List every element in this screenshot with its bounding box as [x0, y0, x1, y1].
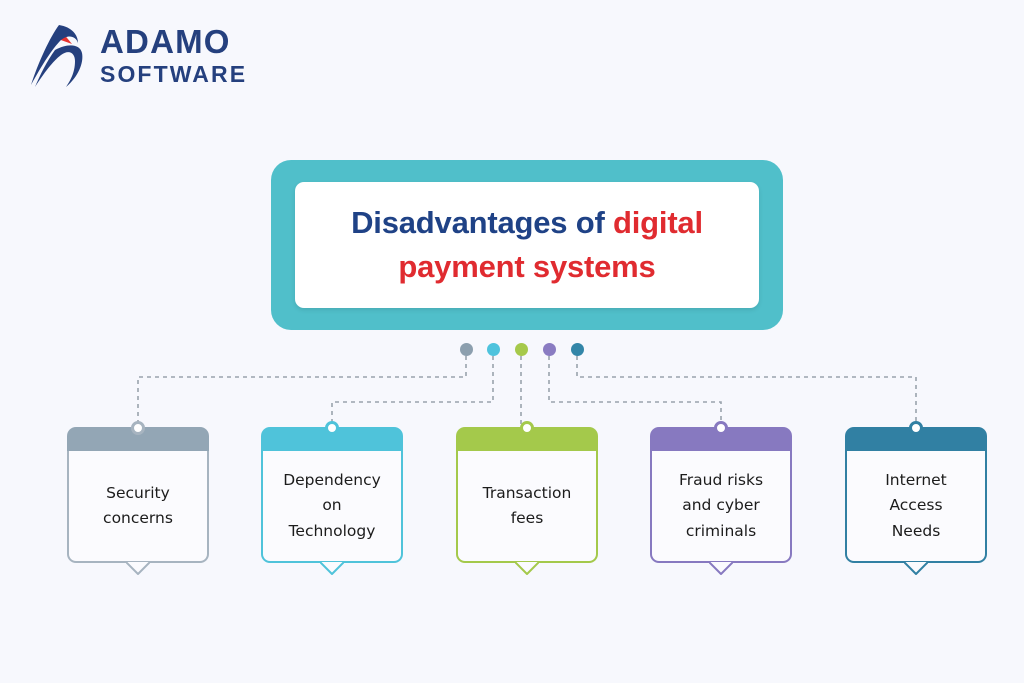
title-accent-part-1: digital	[613, 205, 703, 240]
card-transaction-fees[interactable]: Transactionfees	[456, 427, 598, 563]
card-body: InternetAccessNeeds	[845, 451, 987, 563]
brand-name-top: ADAMO	[100, 25, 247, 58]
card-top-notch	[131, 421, 145, 435]
card-body: Transactionfees	[456, 451, 598, 563]
card-bottom-tab	[320, 561, 344, 575]
dot-internet	[571, 343, 584, 356]
dot-dependency	[487, 343, 500, 356]
card-top-notch	[325, 421, 339, 435]
card-bottom-tab	[904, 561, 928, 575]
card-bottom-tab	[515, 561, 539, 575]
card-label: DependencyonTechnology	[277, 468, 387, 543]
card-internet-access-needs[interactable]: InternetAccessNeeds	[845, 427, 987, 563]
brand-logo: ADAMO SOFTWARE	[28, 16, 268, 94]
card-dependency-on-technology[interactable]: DependencyonTechnology	[261, 427, 403, 563]
card-bottom-tab	[709, 561, 733, 575]
brand-wordmark: ADAMO SOFTWARE	[100, 25, 247, 86]
adamo-swoosh-logo-icon	[28, 19, 90, 91]
title-card: Disadvantages of digital payment systems	[295, 182, 759, 308]
card-body: Securityconcerns	[67, 451, 209, 563]
brand-name-bottom: SOFTWARE	[100, 63, 247, 86]
card-body: Fraud risksand cybercriminals	[650, 451, 792, 563]
card-label: Securityconcerns	[97, 481, 179, 531]
card-bottom-tab	[126, 561, 150, 575]
dot-security	[460, 343, 473, 356]
card-body: DependencyonTechnology	[261, 451, 403, 563]
dot-transaction	[515, 343, 528, 356]
page-title: Disadvantages of digital payment systems	[337, 201, 717, 289]
title-plain-part: Disadvantages of	[351, 205, 613, 240]
connector-lines	[0, 0, 1024, 683]
card-security-concerns[interactable]: Securityconcerns	[67, 427, 209, 563]
title-frame: Disadvantages of digital payment systems	[271, 160, 783, 330]
title-accent-part-2: payment systems	[398, 249, 655, 284]
card-label: InternetAccessNeeds	[879, 468, 953, 543]
card-label: Transactionfees	[477, 481, 578, 531]
card-fraud-risks-and-cyber-criminals[interactable]: Fraud risksand cybercriminals	[650, 427, 792, 563]
card-top-notch	[909, 421, 923, 435]
card-label: Fraud risksand cybercriminals	[673, 468, 769, 543]
card-top-notch	[714, 421, 728, 435]
dot-fraud	[543, 343, 556, 356]
card-top-notch	[520, 421, 534, 435]
